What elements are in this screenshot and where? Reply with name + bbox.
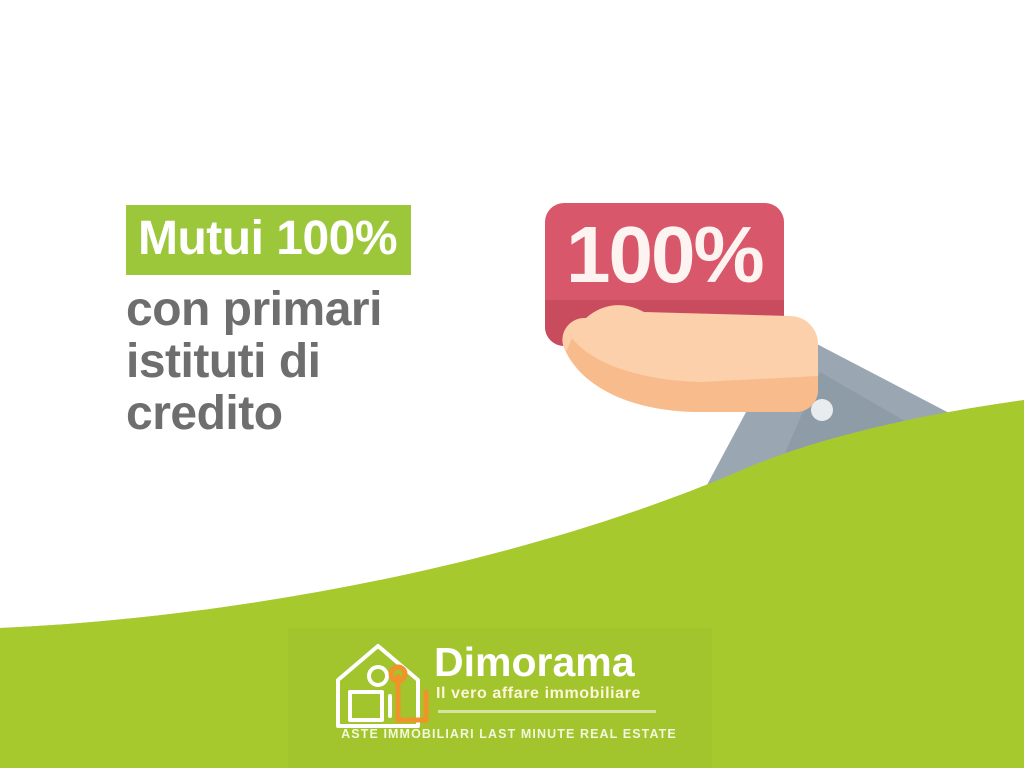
headline-highlight: Mutui 100% <box>126 205 411 275</box>
house-logo-icon <box>330 640 442 732</box>
banner-canvas: Mutui 100% con primari istituti di credi… <box>0 0 1024 768</box>
card-percent-label: 100% <box>566 215 763 295</box>
headline-highlight-wrap: Mutui 100% <box>126 205 496 275</box>
logo: Dimorama Il vero affare immobiliare ASTE… <box>330 636 680 756</box>
logo-tagline: Il vero affare immobiliare <box>436 686 641 702</box>
headline-rest: con primari istituti di credito <box>126 284 496 439</box>
headline-line-2: istituti di <box>126 336 496 388</box>
headline-line-3: credito <box>126 388 496 440</box>
headline-line-1: con primari <box>126 284 496 336</box>
headline-block: Mutui 100% con primari istituti di credi… <box>126 205 496 439</box>
logo-subline: ASTE IMMOBILIARI LAST MINUTE REAL ESTATE <box>324 728 694 741</box>
logo-wordmark: Dimorama <box>434 642 635 683</box>
logo-divider <box>438 710 656 713</box>
